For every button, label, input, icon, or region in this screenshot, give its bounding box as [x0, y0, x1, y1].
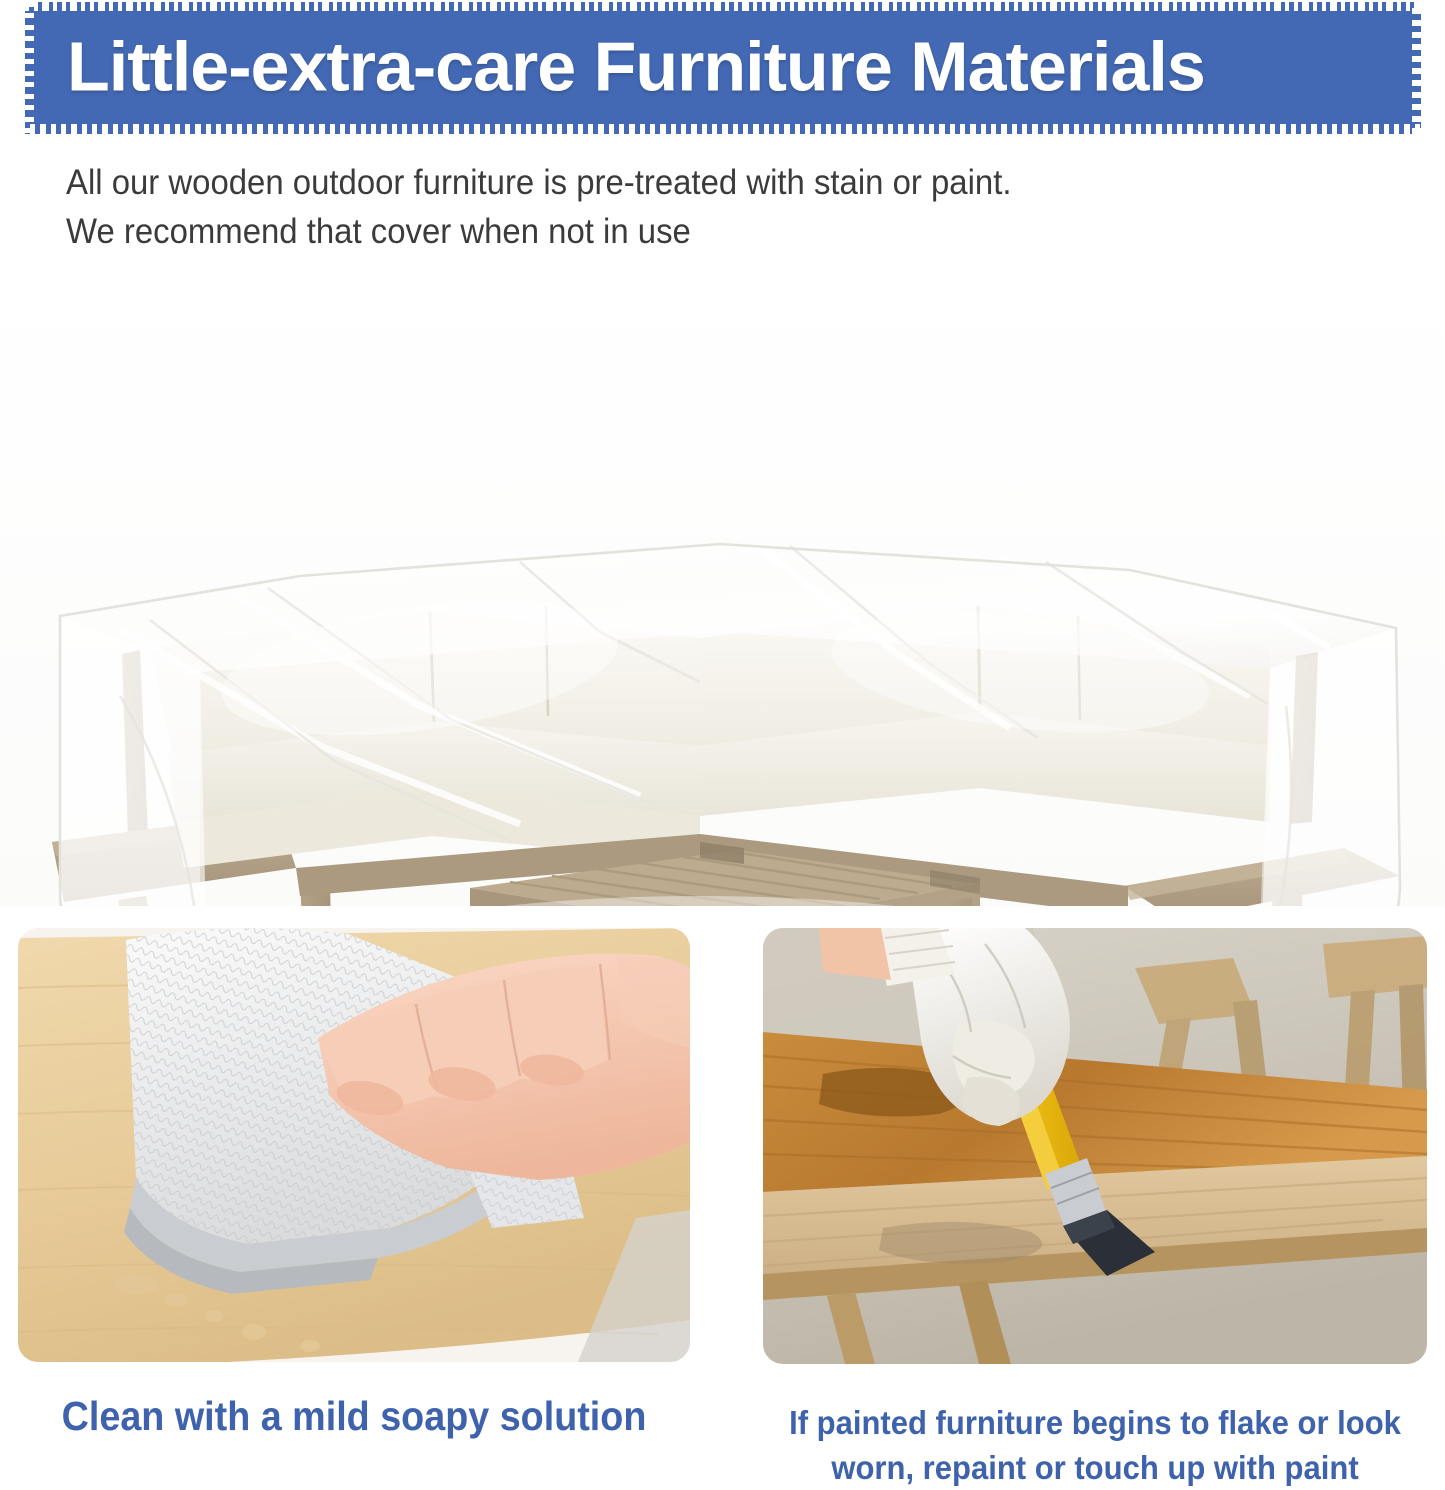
hero-image-covered-sectional — [0, 276, 1445, 906]
header-banner: Little-extra-care Furniture Materials — [25, 2, 1421, 134]
page-title: Little-extra-care Furniture Materials — [67, 26, 1205, 106]
banner-torn-edge-right — [1412, 2, 1421, 134]
caption-clean: Clean with a mild soapy solution — [45, 1388, 663, 1444]
banner-torn-edge-left — [25, 2, 34, 134]
banner-torn-edge-top — [25, 2, 1421, 11]
hero-illustration — [0, 276, 1445, 906]
forearm — [819, 928, 891, 980]
subtitle-block: All our wooden outdoor furniture is pre-… — [66, 158, 1241, 256]
repaint-illustration — [763, 928, 1427, 1364]
subtitle-line-1: All our wooden outdoor furniture is pre-… — [66, 158, 1241, 207]
subtitle-line-2: We recommend that cover when not in use — [66, 207, 1241, 256]
photo-panel-repaint — [763, 928, 1427, 1364]
photo-panel-clean — [18, 928, 690, 1362]
banner-torn-edge-bottom — [25, 124, 1421, 134]
clean-illustration — [18, 928, 690, 1362]
caption-repaint: If painted furniture begins to flake or … — [783, 1400, 1407, 1490]
